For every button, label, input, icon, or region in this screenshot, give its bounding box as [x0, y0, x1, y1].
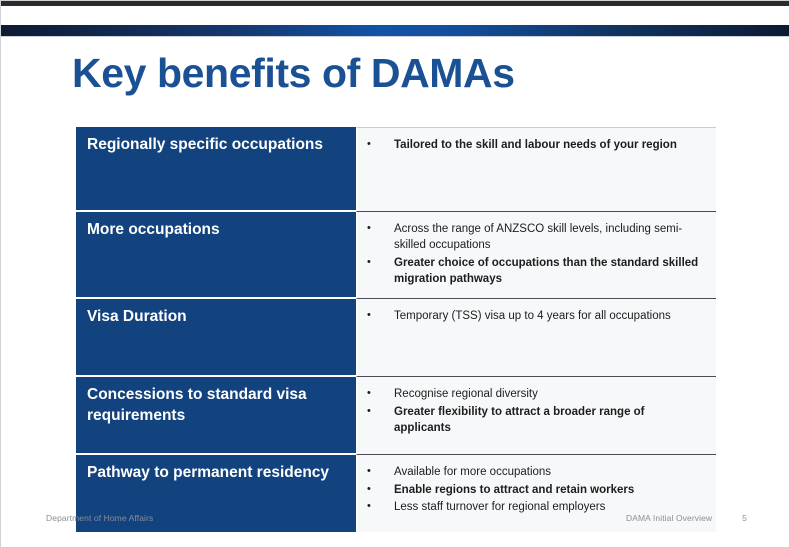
page-title: Key benefits of DAMAs: [72, 52, 515, 95]
benefit-label: Regionally specific occupations: [76, 127, 356, 212]
header-gradient-band: [1, 25, 790, 36]
benefit-points-cell: • Temporary (TSS) visa up to 4 years for…: [356, 299, 716, 377]
point-text: Temporary (TSS) visa up to 4 years for a…: [394, 308, 704, 324]
list-item: • Greater choice of occupations than the…: [365, 255, 704, 288]
list-item: • Greater flexibility to attract a broad…: [365, 404, 704, 437]
footer-deck-name: DAMA Initial Overview: [626, 513, 712, 523]
table-row: Concessions to standard visa requirement…: [76, 377, 716, 455]
header-band-hairline: [1, 36, 790, 37]
points-list: • Recognise regional diversity • Greater…: [357, 377, 716, 454]
bullet-icon: •: [365, 404, 394, 420]
bullet-icon: •: [365, 221, 394, 237]
benefit-points-cell: • Recognise regional diversity • Greater…: [356, 377, 716, 455]
points-list: • Temporary (TSS) visa up to 4 years for…: [357, 299, 716, 376]
points-list: • Across the range of ANZSCO skill level…: [357, 212, 716, 298]
bullet-icon: •: [365, 464, 394, 480]
top-edge-strip: [1, 1, 790, 6]
point-text: Greater flexibility to attract a broader…: [394, 404, 704, 437]
footer-right: DAMA Initial Overview 5: [626, 513, 747, 523]
footer-page-number: 5: [742, 513, 747, 523]
bullet-icon: •: [365, 482, 394, 498]
benefit-points-cell: • Tailored to the skill and labour needs…: [356, 127, 716, 212]
footer-organisation: Department of Home Affairs: [46, 513, 153, 523]
benefit-label: Concessions to standard visa requirement…: [76, 377, 356, 455]
list-item: • Across the range of ANZSCO skill level…: [365, 221, 704, 254]
table-row: More occupations • Across the range of A…: [76, 212, 716, 299]
point-text: Available for more occupations: [394, 464, 704, 480]
table-row: Regionally specific occupations • Tailor…: [76, 127, 716, 212]
benefits-table: Regionally specific occupations • Tailor…: [76, 127, 716, 532]
point-text: Greater choice of occupations than the s…: [394, 255, 704, 288]
bullet-icon: •: [365, 137, 394, 153]
bullet-icon: •: [365, 255, 394, 271]
table-row: Pathway to permanent residency • Availab…: [76, 455, 716, 532]
point-text: Tailored to the skill and labour needs o…: [394, 137, 704, 153]
list-item: • Available for more occupations: [365, 464, 704, 480]
points-list: • Tailored to the skill and labour needs…: [357, 128, 716, 211]
bullet-icon: •: [365, 386, 394, 402]
benefit-label: Visa Duration: [76, 299, 356, 377]
point-text: Enable regions to attract and retain wor…: [394, 482, 704, 498]
point-text: Across the range of ANZSCO skill levels,…: [394, 221, 704, 254]
table-row: Visa Duration • Temporary (TSS) visa up …: [76, 299, 716, 377]
list-item: • Tailored to the skill and labour needs…: [365, 137, 704, 153]
bullet-icon: •: [365, 308, 394, 324]
list-item: • Enable regions to attract and retain w…: [365, 482, 704, 498]
bullet-icon: •: [365, 499, 394, 515]
slide-canvas: Key benefits of DAMAs Regionally specifi…: [0, 0, 790, 548]
benefits-table-body: Regionally specific occupations • Tailor…: [76, 127, 716, 532]
benefit-label: More occupations: [76, 212, 356, 299]
list-item: • Recognise regional diversity: [365, 386, 704, 402]
list-item: • Temporary (TSS) visa up to 4 years for…: [365, 308, 704, 324]
point-text: Recognise regional diversity: [394, 386, 704, 402]
benefit-points-cell: • Across the range of ANZSCO skill level…: [356, 212, 716, 299]
